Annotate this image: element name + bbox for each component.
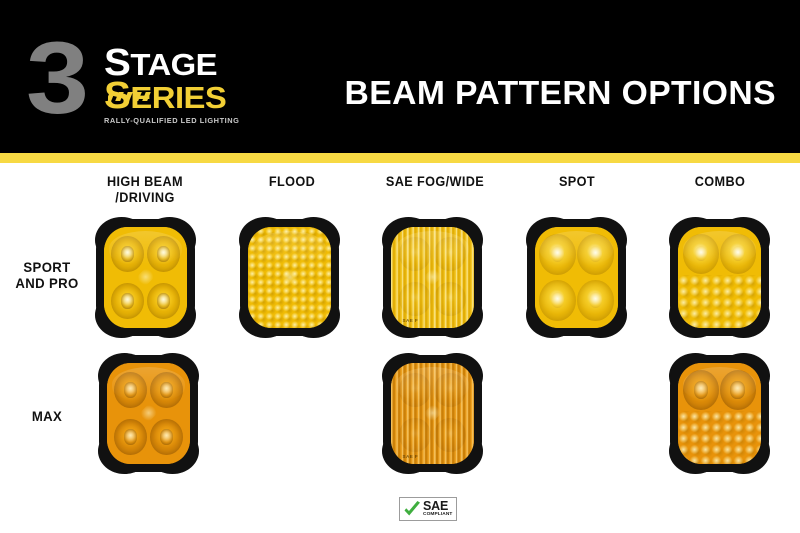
lens-face <box>678 363 761 465</box>
lens-graphic: SAE F <box>383 219 482 336</box>
lens-face: SAE F <box>391 227 474 329</box>
lens-face <box>535 227 618 329</box>
header-accent-bar <box>0 153 800 163</box>
column-header-combo: COMBO <box>659 174 781 190</box>
lens-sport-flood <box>240 219 339 336</box>
led-optic <box>150 419 183 456</box>
lens-max-sae-fog-wide: SAE F <box>383 355 482 472</box>
column-header-high-beam-driving: HIGH BEAM /DRIVING <box>82 174 208 205</box>
spot-dome <box>577 234 614 276</box>
lens-face <box>104 227 187 329</box>
lens-sport-combo <box>670 219 769 336</box>
page-title: BEAM PATTERN OPTIONS <box>345 74 776 112</box>
logo-series-rest: ERIES <box>130 80 226 115</box>
sae-badge-text: SAE COMPLIANT <box>423 500 457 518</box>
lens-max-spot-empty <box>527 355 626 472</box>
lens-face <box>107 363 190 465</box>
lens-max-combo <box>670 355 769 472</box>
column-header-spot: SPOT <box>516 174 638 190</box>
led-optic <box>720 370 757 411</box>
lens-graphic <box>670 355 769 472</box>
led-optic <box>147 283 180 320</box>
lens-optics-driving <box>107 363 190 465</box>
checkmark-icon <box>402 500 422 520</box>
lens-sport-sae-fog-wide: SAE F <box>383 219 482 336</box>
lens-face: SAE F <box>391 363 474 465</box>
lens-face <box>678 227 761 329</box>
lens-sport-high-beam-driving <box>96 219 195 336</box>
spot-dome <box>539 234 576 276</box>
brand-logo: 3 STAGE SERIES RALLY-QUALIFIED LED LIGHT… <box>26 26 266 126</box>
lens-graphic <box>99 355 198 472</box>
logo-wordmark: STAGE SERIES RALLY-QUALIFIED LED LIGHTIN… <box>104 48 269 125</box>
led-optic <box>111 283 144 320</box>
lens-sport-spot <box>527 219 626 336</box>
lens-texture-flood <box>678 411 761 464</box>
row-label-sport-and-pro: SPORT AND PRO <box>10 259 83 291</box>
logo-stage-rest: TAGE <box>130 47 217 82</box>
lens-sae-marking: SAE F <box>403 454 419 459</box>
row-label-max: MAX <box>10 408 83 424</box>
lens-graphic <box>240 219 339 336</box>
spot-dome <box>577 280 614 322</box>
lens-sae-marking: SAE F <box>403 318 419 323</box>
page-header: 3 STAGE SERIES RALLY-QUALIFIED LED LIGHT… <box>0 0 800 153</box>
logo-numeral: 3 <box>26 28 84 130</box>
led-optic <box>147 236 180 273</box>
sae-compliant-badge: SAE COMPLIANT <box>399 497 457 521</box>
lens-graphic: SAE F <box>383 355 482 472</box>
lens-optics-driving <box>104 227 187 329</box>
spot-dome <box>720 234 757 275</box>
sae-badge-subtitle: COMPLIANT <box>423 512 457 518</box>
led-optic <box>114 419 147 456</box>
lens-graphic <box>670 219 769 336</box>
led-optic <box>683 370 720 411</box>
sae-badge-title: SAE <box>423 500 457 512</box>
logo-series-cap: S <box>104 75 130 117</box>
led-optic <box>111 236 144 273</box>
lens-graphic <box>527 219 626 336</box>
lens-max-high-beam-driving <box>99 355 198 472</box>
column-header-sae-fog-wide: SAE FOG/WIDE <box>369 174 501 190</box>
column-header-row: HIGH BEAM /DRIVING FLOOD SAE FOG/WIDE SP… <box>0 174 800 220</box>
logo-tagline: RALLY-QUALIFIED LED LIGHTING <box>104 116 269 125</box>
beam-pattern-grid: HIGH BEAM /DRIVING FLOOD SAE FOG/WIDE SP… <box>0 163 800 533</box>
spot-dome <box>539 280 576 322</box>
lens-max-flood-empty <box>240 355 339 472</box>
column-header-flood: FLOOD <box>229 174 355 190</box>
logo-word-series: SERIES <box>104 81 279 113</box>
lens-texture-flood <box>678 275 761 328</box>
lens-optics-spot <box>535 227 618 329</box>
led-optic <box>114 372 147 409</box>
spot-dome <box>683 234 720 275</box>
lens-graphic <box>96 219 195 336</box>
lens-face <box>248 227 331 329</box>
led-optic <box>150 372 183 409</box>
